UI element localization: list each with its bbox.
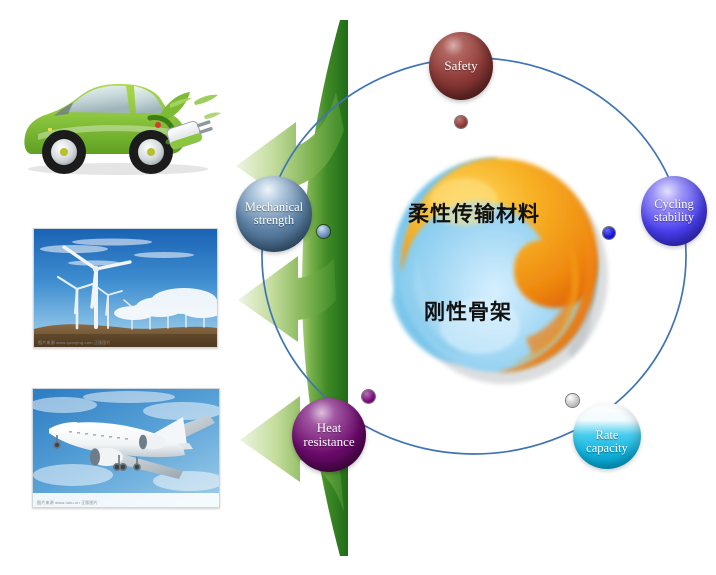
marker-dot-mechanical [317, 225, 330, 238]
photo-airplane: 图片来源 www.tuku.cn 正版图片 [32, 388, 220, 508]
node-cycling-stability[interactable]: Cycling stability [641, 176, 707, 246]
yin-yang-core [372, 140, 618, 390]
node-heat-line1: Heat [302, 421, 355, 435]
diagram-canvas: 图片来源 www.quanjing.com 正版图片 [0, 0, 716, 575]
marker-dot-cycling [603, 227, 615, 239]
marker-dot-safety [455, 116, 467, 128]
photo-electric-car [18, 62, 223, 187]
core-bottom-label: 刚性骨架 [424, 296, 512, 326]
node-heat-resistance[interactable]: Heat resistance [292, 398, 366, 472]
marker-dot-rate [566, 394, 579, 407]
node-rate-capacity[interactable]: Rate capacity [573, 403, 641, 469]
node-mech-line2: strength [244, 214, 304, 227]
node-mechanical-strength[interactable]: Mechanical strength [236, 176, 312, 252]
node-heat-line2: resistance [302, 435, 355, 449]
photo-caption: 图片来源 www.tuku.cn 正版图片 [37, 500, 98, 506]
node-rate-line1: Rate [585, 429, 629, 442]
core-top-label: 柔性传输材料 [408, 198, 540, 228]
node-rate-line2: capacity [585, 442, 629, 455]
photo-caption: 图片来源 www.quanjing.com 正版图片 [38, 340, 111, 346]
photo-wind-turbines: 图片来源 www.quanjing.com 正版图片 [33, 228, 218, 348]
marker-dot-heat [362, 390, 375, 403]
node-safety[interactable]: Safety [429, 32, 493, 100]
node-cycling-line2: stability [653, 211, 695, 224]
node-safety-label: Safety [443, 59, 478, 73]
